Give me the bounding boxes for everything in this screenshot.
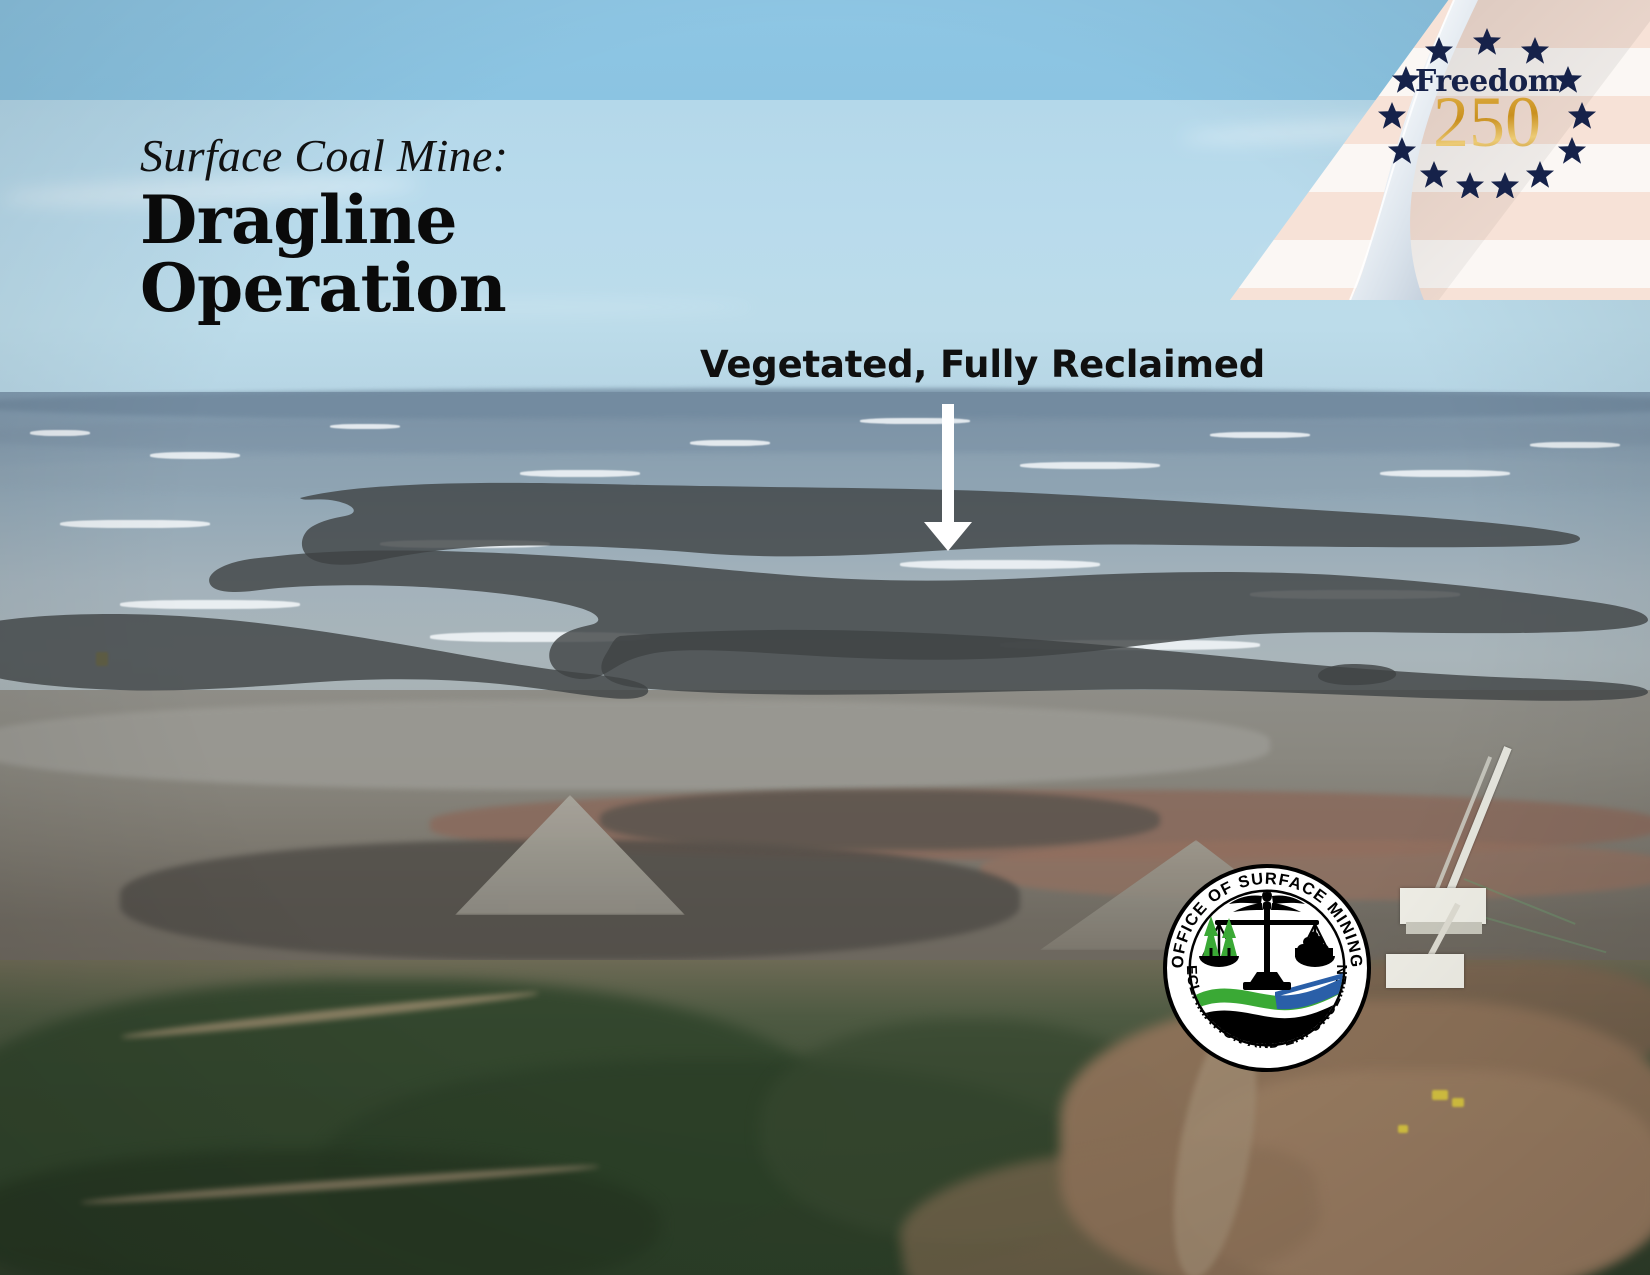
poster-canvas: Surface Coal Mine: Dragline Operation Ve…: [0, 0, 1650, 1275]
page-title: Dragline Operation: [140, 187, 508, 323]
headline-line-1: Dragline: [140, 187, 508, 255]
freedom-250-logo: Freedom 250: [1362, 18, 1612, 198]
headline-line-2: Operation: [140, 255, 508, 323]
freedom-250-corner: Freedom 250: [1230, 0, 1650, 300]
down-arrow-icon: [922, 404, 974, 557]
freedom-250-number: 250: [1362, 86, 1612, 158]
title-block: Surface Coal Mine: Dragline Operation: [140, 133, 508, 323]
callout-label: Vegetated, Fully Reclaimed: [700, 343, 1265, 386]
eyebrow-text: Surface Coal Mine:: [140, 133, 508, 179]
osmre-agency-seal: OFFICE OF SURFACE MINING RECLAMATION AND…: [1163, 864, 1371, 1072]
